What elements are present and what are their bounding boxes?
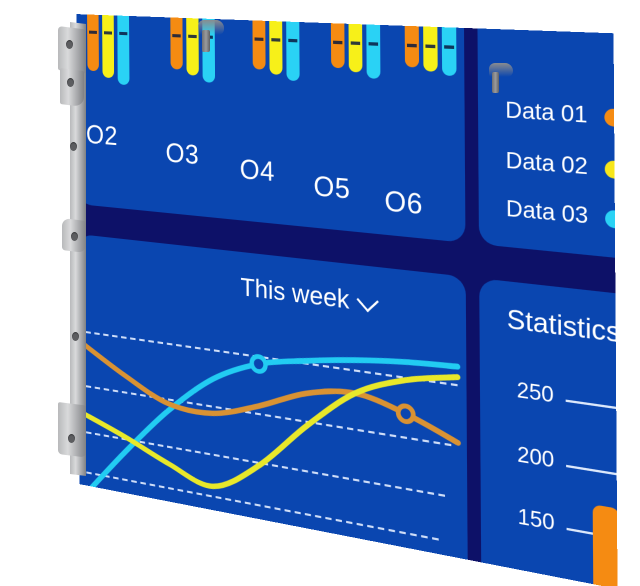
bracket-hole <box>66 40 73 49</box>
hook-stem <box>492 72 499 93</box>
bar <box>423 26 438 71</box>
bar-tick <box>333 41 342 45</box>
bar-tick <box>288 39 297 43</box>
statistics-title-label: Statistics 03 <box>507 304 618 356</box>
statistics-y-tick-label: 150 <box>492 501 555 538</box>
bar-tick <box>351 41 360 45</box>
bar <box>286 22 299 81</box>
bar-category-label: O6 <box>384 184 423 222</box>
line-data-point-marker[interactable] <box>398 405 413 423</box>
bar-group <box>405 26 457 76</box>
bar <box>349 24 363 73</box>
legend-item[interactable]: Data 03 <box>506 196 618 233</box>
statistics-y-tick-label: 250 <box>491 375 554 409</box>
bar <box>269 21 282 75</box>
bracket-hole <box>72 332 79 341</box>
bracket-hole <box>70 142 77 151</box>
statistics-y-tick-label: 200 <box>492 439 555 474</box>
bar <box>117 16 129 86</box>
bar <box>102 15 114 78</box>
bracket-top-lug <box>58 26 86 73</box>
legend-item[interactable]: Data 02 <box>506 148 618 184</box>
legend-color-dot <box>604 108 617 127</box>
bar-tick <box>104 31 112 34</box>
bracket-hole <box>67 78 74 87</box>
bar-tick <box>255 37 264 41</box>
bar-group <box>331 23 381 79</box>
bar-tick <box>172 34 180 37</box>
line-data-point-marker[interactable] <box>252 356 266 373</box>
product-render-scene: O2O3O4O5O6 Data 01Data 02Data 03 This we… <box>0 0 640 480</box>
bar <box>170 17 182 70</box>
bar <box>252 20 265 69</box>
bar-group <box>87 14 129 85</box>
statistics-title: Statistics 03 <box>507 304 618 356</box>
bar-category-label: O3 <box>165 137 199 172</box>
legend-item[interactable]: Data 01 <box>505 98 617 132</box>
bar-category-label: O4 <box>240 153 275 189</box>
lock-hook-handle[interactable] <box>198 20 226 52</box>
legend-list: Data 01Data 02Data 03 <box>477 28 617 38</box>
bracket-top-taper <box>60 68 84 107</box>
led-wall-screen: O2O3O4O5O6 Data 01Data 02Data 03 This we… <box>77 14 618 586</box>
statistics-gridline <box>566 465 617 497</box>
side-mounting-bracket <box>58 22 92 474</box>
bar <box>405 26 419 68</box>
legend-item-label: Data 01 <box>505 98 587 130</box>
lock-hook-handle[interactable] <box>489 63 515 93</box>
hook-stem <box>202 30 210 52</box>
bar-tick <box>271 38 280 42</box>
bar-tick <box>407 44 417 48</box>
bar-tick <box>369 42 379 46</box>
bar-tick <box>188 35 197 38</box>
statistics-bar <box>593 504 618 586</box>
statistics-panel: Statistics 03 250200150 <box>479 278 617 586</box>
bracket-hole <box>68 434 75 443</box>
bar-tick <box>119 32 127 35</box>
bar-tick <box>425 44 435 48</box>
legend-item-label: Data 03 <box>506 196 588 230</box>
line-series <box>82 324 459 532</box>
bar-chart-plot <box>77 14 464 28</box>
legend-item-label: Data 02 <box>506 148 588 181</box>
bar <box>186 18 199 75</box>
line-chart-svg <box>78 234 468 577</box>
bar <box>331 23 345 69</box>
bar-category-label: O5 <box>313 169 350 206</box>
statistics-plot: 250200150 <box>479 278 617 309</box>
legend-color-dot <box>605 160 618 179</box>
bar-group <box>252 20 299 81</box>
statistics-gridline <box>566 400 618 429</box>
this-week-panel: This week <box>78 234 468 577</box>
bar <box>442 27 457 76</box>
legend-color-dot <box>605 210 617 229</box>
bracket-bottom-lug <box>58 402 86 457</box>
led-wall-wrapper: O2O3O4O5O6 Data 01Data 02Data 03 This we… <box>0 0 640 480</box>
bar-chart-panel: O2O3O4O5O6 <box>77 14 466 243</box>
bar <box>366 24 380 78</box>
bar-tick <box>444 45 454 49</box>
bracket-hole <box>71 232 78 241</box>
